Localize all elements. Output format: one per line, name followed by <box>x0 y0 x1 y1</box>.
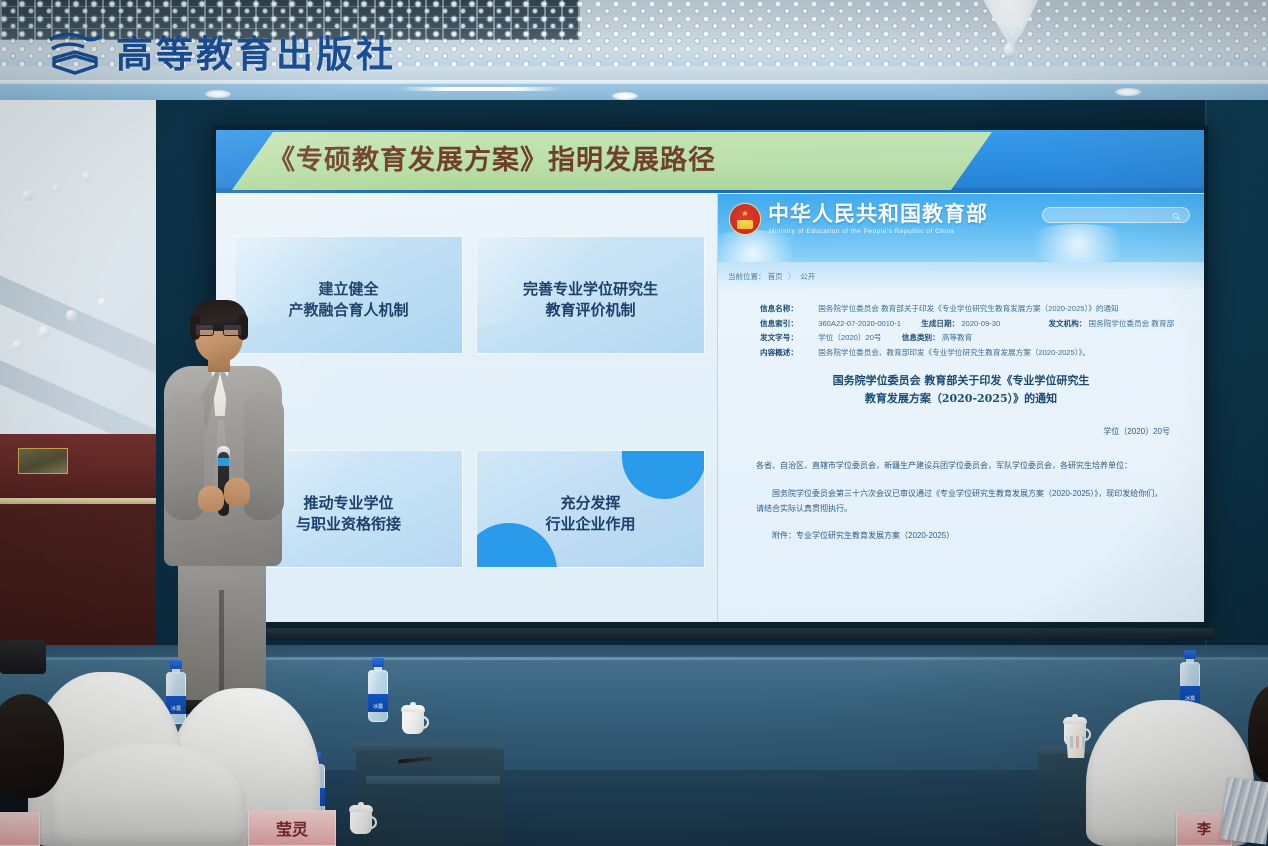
national-emblem-icon: ★ <box>730 204 760 234</box>
wall-bubble-icon <box>22 190 33 201</box>
concept-card-text: 完善专业学位研究生 教育评价机制 <box>477 279 704 321</box>
brand-logo: 高等教育出版社 <box>44 28 396 80</box>
brand-logo-text: 高等教育出版社 <box>116 32 396 76</box>
name-card: 莹灵 <box>248 810 336 846</box>
metadata-row: 内容概述： 国务院学位委员会、教育部印发《专业学位研究生教育发展方案（2020-… <box>760 346 1180 361</box>
metadata-label: 内容概述： <box>760 348 798 357</box>
metadata-value: 高等教育 <box>942 333 972 342</box>
bottle-cap <box>372 658 384 667</box>
speaker-hand <box>224 478 250 506</box>
concept-card-line1: 充分发挥 <box>477 493 704 514</box>
eyeglasses-icon <box>194 324 244 336</box>
presentation-slide: 《专硕教育发展方案》指明发展路径 建立健全 产教融合育人机制 完善专业学位研究生… <box>216 130 1204 622</box>
metadata-row: 信息索引： 360A22-07-2020-0010-1 生成日期： 2020-0… <box>760 317 1180 332</box>
metadata-value: 国务院学位委员会、教育部印发《专业学位研究生教育发展方案（2020-2025）》… <box>818 348 1090 357</box>
metadata-row: 发文字号： 学位〔2020〕20号 信息类别： 高等教育 <box>760 331 1180 346</box>
metadata-label: 发文机构： <box>1048 319 1086 328</box>
wall-plaque <box>18 448 68 474</box>
wall-bubble-icon <box>38 326 51 339</box>
metadata-value: 学位〔2020〕20号 <box>818 333 881 342</box>
breadcrumb-prefix: 当前位置： <box>728 272 766 281</box>
document-title-line2: 教育发展方案（2020-2025）》的通知 <box>778 390 1144 408</box>
wall-bubble-icon <box>66 310 77 321</box>
paper-cup <box>1064 728 1088 758</box>
metadata-value: 国务院学位委员会 教育部关于印发《专业学位研究生教育发展方案（2020-2025… <box>818 304 1118 313</box>
monitor-back <box>0 640 46 674</box>
cup-knob <box>358 802 364 807</box>
speaker-hand <box>198 486 224 512</box>
speaker <box>150 300 310 720</box>
bottle-cap <box>1184 650 1196 659</box>
eyeglass-bridge <box>214 329 223 331</box>
metadata-row: 信息名称： 国务院学位委员会 教育部关于印发《专业学位研究生教育发展方案（202… <box>760 302 1180 317</box>
emblem-gear-icon <box>737 220 753 229</box>
wall-bubble-icon <box>98 298 107 307</box>
metadata-label: 信息名称： <box>760 304 798 313</box>
document-addressee: 各省、自治区、直辖市学位委员会，新疆生产建设兵团学位委员会，军队学位委员会，各研… <box>756 458 1166 473</box>
water-bottle: 冰露 <box>368 658 388 722</box>
bottle-cap <box>170 660 182 669</box>
chair <box>50 744 246 846</box>
concept-card-line2: 教育评价机制 <box>477 300 704 321</box>
concept-card-line1: 建立健全 <box>235 279 462 300</box>
name-card <box>0 812 40 846</box>
bottle-label-text: 冰露 <box>368 704 388 710</box>
moe-site-title-en: Ministry of Education of the People's Re… <box>769 227 955 236</box>
eyeglass-lens <box>195 324 214 336</box>
cup-knob <box>410 702 416 707</box>
name-card-text: 莹灵 <box>249 816 335 840</box>
screen-bottom-bar <box>206 628 1214 640</box>
breadcrumb-item-home[interactable]: 首页 <box>768 272 783 281</box>
cup-body <box>402 710 424 734</box>
metadata-value: 360A22-07-2020-0010-1 <box>818 319 901 328</box>
moe-search-input[interactable] <box>1042 207 1190 223</box>
booklet <box>1220 777 1268 844</box>
higher-education-press-logo-icon <box>44 28 106 80</box>
paper-cup-stripe <box>1064 736 1088 748</box>
concept-card-line2: 行业企业作用 <box>477 514 704 535</box>
conference-table-cloth <box>356 750 504 846</box>
moe-site-title-cn: 中华人民共和国教育部 <box>768 202 988 226</box>
moe-website-screenshot: ★ 中华人民共和国教育部 Ministry of Education of th… <box>718 194 1204 622</box>
metadata-label: 信息类别： <box>902 333 940 342</box>
document-title: 国务院学位委员会 教育部关于印发《专业学位研究生 教育发展方案（2020-202… <box>778 372 1144 408</box>
eyeglass-lens <box>223 324 242 336</box>
metadata-value: 2020-09-30 <box>961 319 1000 328</box>
speaker-arm <box>244 392 284 520</box>
document-body-paragraph: 国务院学位委员会第三十六次会议已审议通过《专业学位研究生教育发展方案（2020-… <box>756 486 1168 516</box>
concept-card-text: 充分发挥 行业企业作用 <box>477 493 704 535</box>
microphone-band <box>218 458 229 466</box>
document-number: 学位〔2020〕20号 <box>1103 426 1170 438</box>
document-attachment-line: 附件：专业学位研究生教育发展方案（2020-2025） <box>756 528 1166 543</box>
back-wall-right-section <box>1205 100 1268 660</box>
emblem-star-icon: ★ <box>741 210 748 218</box>
cup-knob <box>1072 714 1078 719</box>
cup-body <box>350 810 372 834</box>
chevron-right-icon: 〉 <box>788 272 796 281</box>
concept-card: 充分发挥 行业企业作用 <box>476 450 705 568</box>
slide-title: 《专硕教育发展方案》指明发展路径 <box>268 140 968 182</box>
tea-cup <box>348 802 376 834</box>
moe-site-header: ★ 中华人民共和国教育部 Ministry of Education of th… <box>718 194 1204 262</box>
strip-light-icon <box>398 87 563 91</box>
metadata-label: 发文字号： <box>760 333 798 342</box>
cloud-decoration-icon <box>1018 224 1138 262</box>
chandelier-drop-icon <box>1004 42 1015 58</box>
conference-photo-scene: 高等教育出版社 《专硕教育发展方案》指明发展路径 建立健全 产教融合育人机制 完… <box>0 0 1268 846</box>
metadata-label: 信息索引： <box>760 319 798 328</box>
breadcrumb-item-current: 公开 <box>800 272 815 281</box>
document-title-line1: 国务院学位委员会 教育部关于印发《专业学位研究生 <box>778 372 1144 390</box>
tea-cup <box>400 702 428 734</box>
breadcrumb: 当前位置： 首页 〉 公开 <box>728 271 815 282</box>
downlight-icon <box>1115 88 1141 96</box>
conference-table-top <box>366 776 500 784</box>
downlight-icon <box>205 90 231 98</box>
decorative-blob-icon <box>622 450 705 499</box>
downlight-icon <box>612 92 638 100</box>
document-metadata-table: 信息名称： 国务院学位委员会 教育部关于印发《专业学位研究生教育发展方案（202… <box>760 302 1180 360</box>
metadata-label: 生成日期： <box>921 319 959 328</box>
concept-card-line1: 完善专业学位研究生 <box>477 279 704 300</box>
wall-bubble-icon <box>12 340 23 351</box>
search-icon[interactable] <box>1172 212 1181 221</box>
wall-bubble-icon <box>82 172 92 182</box>
metadata-value: 国务院学位委员会 教育部 <box>1089 319 1175 328</box>
concept-card: 完善专业学位研究生 教育评价机制 <box>476 236 705 354</box>
wall-bubble-icon <box>52 184 61 193</box>
